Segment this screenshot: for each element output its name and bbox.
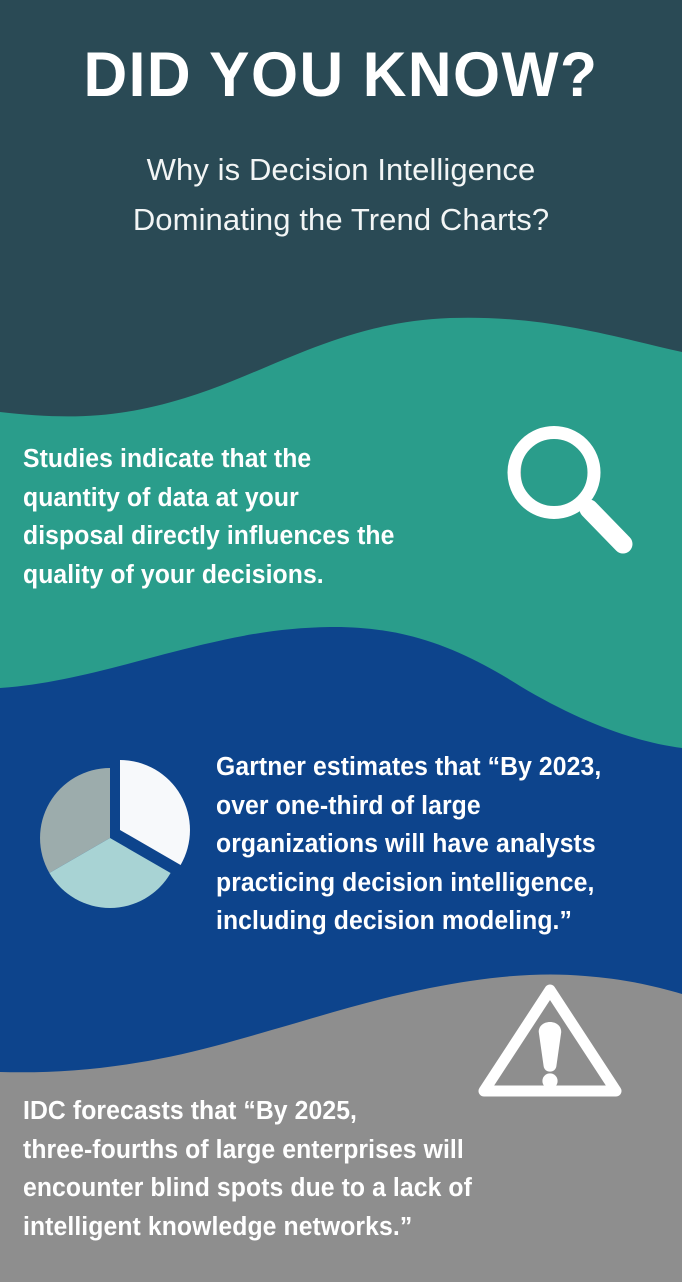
warning-triangle-icon (468, 978, 632, 1102)
fact-green-line-2: quantity of data at your (23, 479, 479, 518)
subtitle-line-1: Why is Decision Intelligence (0, 145, 682, 195)
pie-slice-white (120, 760, 190, 865)
header: DID YOU KNOW? Why is Decision Intelligen… (0, 0, 682, 245)
fact-blue-line-1: Gartner estimates that “By 2023, (216, 748, 662, 787)
pie-chart-icon-svg (30, 752, 198, 920)
fact-text-gartner: Gartner estimates that “By 2023, over on… (216, 748, 662, 941)
fact-gray-line-2: three-fourths of large enterprises will (23, 1131, 566, 1170)
page-subtitle: Why is Decision Intelligence Dominating … (0, 145, 682, 245)
fact-green-line-1: Studies indicate that the (23, 440, 479, 479)
subtitle-line-2: Dominating the Trend Charts? (0, 195, 682, 245)
fact-gray-line-3: encounter blind spots due to a lack of (23, 1169, 566, 1208)
magnifier-handle (589, 509, 623, 544)
magnifier-lens-ring (514, 433, 594, 513)
exclamation-stem (539, 1022, 561, 1072)
fact-green-line-3: disposal directly influences the (23, 517, 479, 556)
infographic-poster: DID YOU KNOW? Why is Decision Intelligen… (0, 0, 682, 1282)
magnifier-icon (492, 412, 640, 560)
fact-gray-line-4: intelligent knowledge networks.” (23, 1208, 566, 1247)
exclamation-dot (542, 1073, 557, 1088)
magnifier-icon-svg (492, 412, 640, 560)
fact-blue-line-5: including decision modeling.” (216, 902, 662, 941)
page-title: DID YOU KNOW? (14, 44, 669, 107)
fact-blue-line-3: organizations will have analysts (216, 825, 662, 864)
warning-triangle-icon-svg (468, 978, 632, 1102)
fact-blue-line-2: over one-third of large (216, 787, 662, 826)
pie-chart-icon (30, 752, 198, 920)
fact-text-studies: Studies indicate that the quantity of da… (23, 440, 479, 594)
fact-blue-line-4: practicing decision intelligence, (216, 864, 662, 903)
fact-text-idc: IDC forecasts that “By 2025, three-fourt… (23, 1092, 566, 1246)
fact-green-line-4: quality of your decisions. (23, 556, 479, 595)
